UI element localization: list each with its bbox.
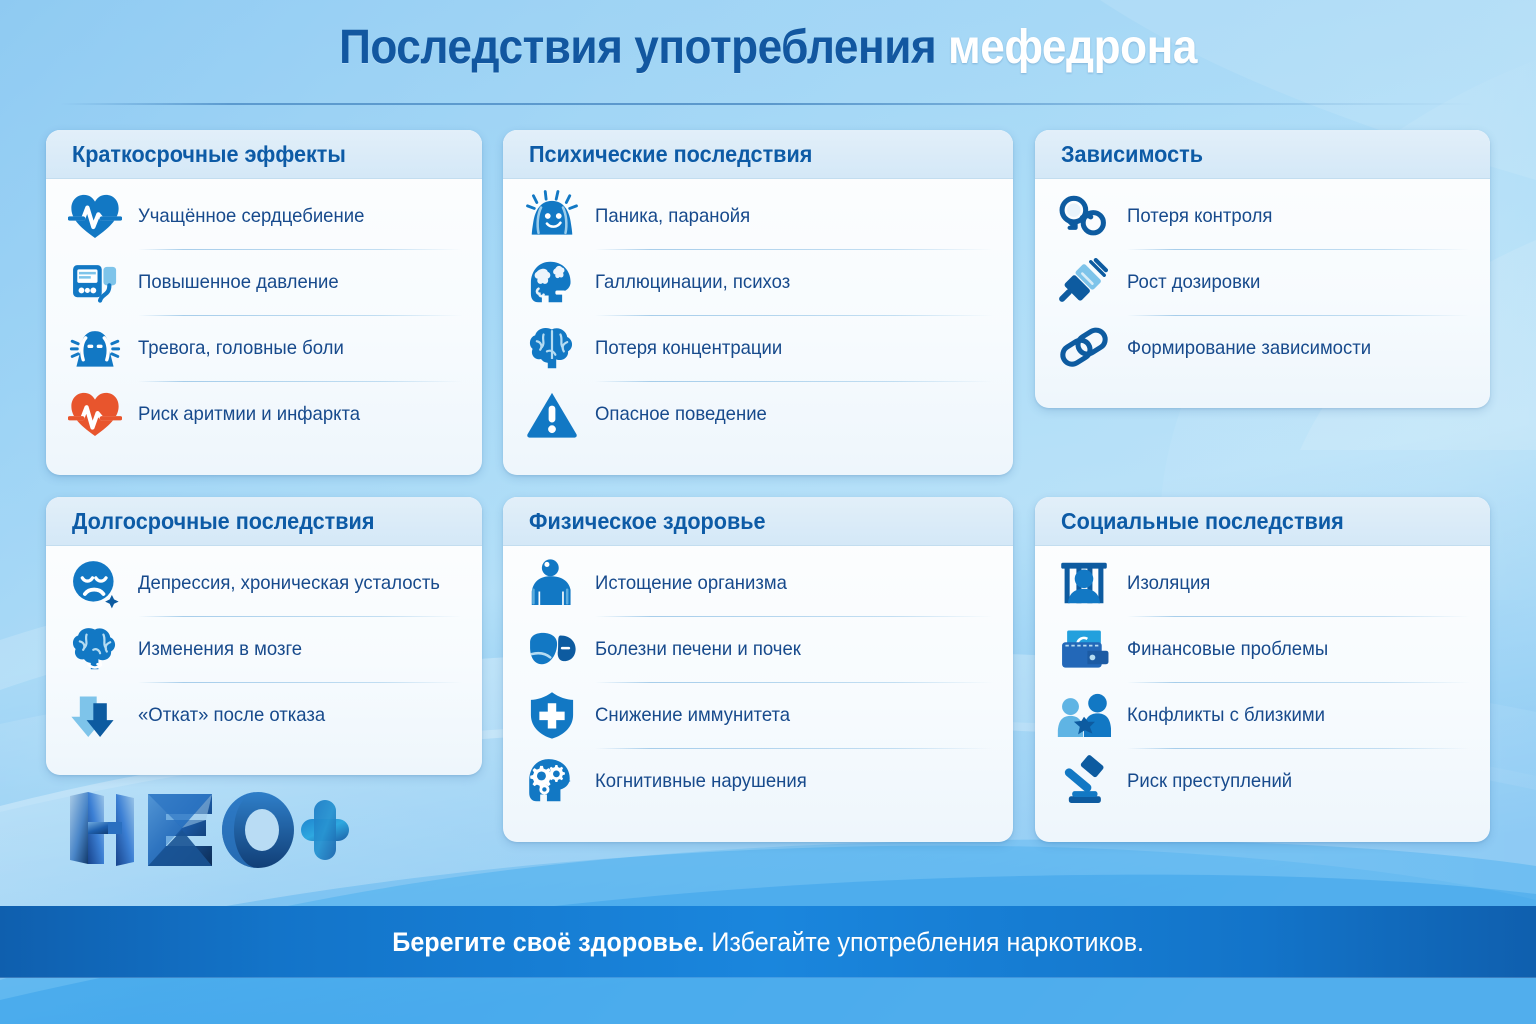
headache-person-icon — [64, 320, 126, 376]
card-mental-header: Психические последствия — [503, 130, 1013, 179]
prison-bars-icon — [1053, 555, 1115, 611]
list-item: Паника, паранойя — [517, 183, 999, 249]
card-mental-title: Психические последствия — [529, 143, 984, 166]
card-short-header: Краткосрочные эффекты — [46, 130, 482, 179]
card-social-title: Социальные последствия — [1061, 510, 1464, 533]
list-item: Болезни печени и почек — [517, 616, 999, 682]
down-arrows-icon — [64, 687, 126, 743]
list-item-label: Риск аритмии и инфаркта — [138, 403, 360, 425]
card-physical-header: Физическое здоровье — [503, 497, 1013, 546]
card-long: Долгосрочные последствия Депрессия, хрон… — [46, 497, 482, 775]
list-item: Риск преступлений — [1049, 748, 1476, 814]
list-item: Изменения в мозге — [60, 616, 468, 682]
list-item: Опасное поведение — [517, 381, 999, 447]
footer-bold-text: Берегите своё здоровье. — [392, 927, 704, 957]
card-long-body: Депрессия, хроническая усталость Изменен… — [46, 546, 482, 775]
list-item: Потеря контроля — [1049, 183, 1476, 249]
heart-pulse-icon — [64, 188, 126, 244]
list-item-label: Учащённое сердцебиение — [138, 205, 364, 227]
list-item-label: Паника, паранойя — [595, 205, 750, 227]
list-item: Риск аритмии и инфаркта — [60, 381, 468, 447]
conflict-people-icon — [1053, 687, 1115, 743]
list-item: Когнитивные нарушения — [517, 748, 999, 814]
card-long-header: Долгосрочные последствия — [46, 497, 482, 546]
list-item: Конфликты с близкими — [1049, 682, 1476, 748]
title-divider — [60, 103, 1476, 105]
chain-link-icon — [1053, 320, 1115, 376]
neo-plus-logo — [62, 786, 352, 870]
list-item: Финансовые проблемы — [1049, 616, 1476, 682]
hallucination-head-icon — [521, 254, 583, 310]
list-item: Рост дозировки — [1049, 249, 1476, 315]
footer-banner: Берегите своё здоровье. Избегайте употре… — [0, 906, 1536, 978]
exhausted-person-icon — [521, 555, 583, 611]
blood-pressure-monitor-icon — [64, 254, 126, 310]
card-addiction: Зависимость Потеря контроля Рост дозиров… — [1035, 130, 1490, 408]
sad-face-icon — [64, 555, 126, 611]
card-social-body: Изоляция Финансовые проблемы Конфликты с… — [1035, 546, 1490, 842]
card-addiction-body: Потеря контроля Рост дозировки Формирова… — [1035, 179, 1490, 408]
list-item-label: «Откат» после отказа — [138, 704, 325, 726]
list-item-label: Опасное поведение — [595, 403, 767, 425]
card-long-title: Долгосрочные последствия — [72, 510, 457, 533]
list-item-label: Изменения в мозге — [138, 638, 302, 660]
list-item: Изоляция — [1049, 550, 1476, 616]
head-gears-icon — [521, 753, 583, 809]
list-item-label: Конфликты с близкими — [1127, 704, 1325, 726]
list-item-label: Изоляция — [1127, 572, 1210, 594]
footer-normal-text: Избегайте употребления наркотиков. — [704, 927, 1144, 957]
title-primary: Последствия употребления — [339, 21, 936, 74]
brain-change-icon — [64, 621, 126, 677]
list-item-label: Болезни печени и почек — [595, 638, 801, 660]
heart-arrhythmia-icon — [64, 386, 126, 442]
list-item: Повышенное давление — [60, 249, 468, 315]
list-item: Истощение организма — [517, 550, 999, 616]
list-item-label: Рост дозировки — [1127, 271, 1260, 293]
handcuffs-icon — [1053, 188, 1115, 244]
list-item: Потеря концентрации — [517, 315, 999, 381]
title-highlight: мефедрона — [948, 21, 1197, 74]
card-short-title: Краткосрочные эффекты — [72, 143, 457, 166]
page-title: Последствия употребления мефедрона — [0, 20, 1536, 75]
wallet-icon — [1053, 621, 1115, 677]
card-physical-body: Истощение организма Болезни печени и поч… — [503, 546, 1013, 842]
list-item: Снижение иммунитета — [517, 682, 999, 748]
card-social: Социальные последствия Изоляция Финансов… — [1035, 497, 1490, 842]
shield-cross-icon — [521, 687, 583, 743]
card-physical: Физическое здоровье Истощение организма … — [503, 497, 1013, 842]
list-item-label: Снижение иммунитета — [595, 704, 790, 726]
list-item-label: Финансовые проблемы — [1127, 638, 1328, 660]
list-item-label: Когнитивные нарушения — [595, 770, 807, 792]
card-short: Краткосрочные эффекты Учащённое сердцеби… — [46, 130, 482, 475]
list-item-label: Риск преступлений — [1127, 770, 1292, 792]
gavel-icon — [1053, 753, 1115, 809]
list-item: «Откат» после отказа — [60, 682, 468, 748]
list-item: Формирование зависимости — [1049, 315, 1476, 381]
list-item-label: Формирование зависимости — [1127, 337, 1371, 359]
brain-icon — [521, 320, 583, 376]
list-item: Депрессия, хроническая усталость — [60, 550, 468, 616]
card-addiction-title: Зависимость — [1061, 143, 1464, 166]
syringe-icon — [1053, 254, 1115, 310]
panic-ghost-icon — [521, 188, 583, 244]
list-item-label: Галлюцинации, психоз — [595, 271, 790, 293]
list-item: Тревога, головные боли — [60, 315, 468, 381]
list-item-label: Повышенное давление — [138, 271, 339, 293]
list-item: Учащённое сердцебиение — [60, 183, 468, 249]
card-addiction-header: Зависимость — [1035, 130, 1490, 179]
warning-triangle-icon — [521, 386, 583, 442]
list-item-label: Потеря концентрации — [595, 337, 782, 359]
list-item: Галлюцинации, психоз — [517, 249, 999, 315]
list-item-label: Тревога, головные боли — [138, 337, 344, 359]
card-mental: Психические последствия Паника, паранойя… — [503, 130, 1013, 475]
list-item-label: Потеря контроля — [1127, 205, 1272, 227]
card-short-body: Учащённое сердцебиение Повышенное давлен… — [46, 179, 482, 475]
card-mental-body: Паника, паранойя Галлюцинации, психоз По… — [503, 179, 1013, 475]
list-item-label: Истощение организма — [595, 572, 787, 594]
list-item-label: Депрессия, хроническая усталость — [138, 572, 440, 594]
card-physical-title: Физическое здоровье — [529, 510, 984, 533]
liver-kidney-icon — [521, 621, 583, 677]
card-social-header: Социальные последствия — [1035, 497, 1490, 546]
